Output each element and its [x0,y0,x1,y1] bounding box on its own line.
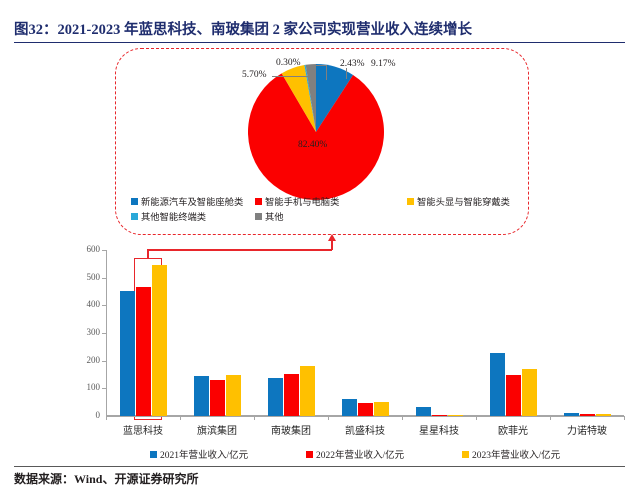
bar[interactable] [300,366,315,416]
y-axis-tick-label: 200 [70,355,100,365]
bar-legend-item-2023[interactable]: 2023年营业收入/亿元 [462,447,560,461]
bar-legend-item-2022[interactable]: 2022年营业收入/亿元 [306,447,404,461]
bar[interactable] [596,414,611,416]
bar-legend-label: 2023年营业收入/亿元 [472,447,560,461]
bar-legend: 2021年营业收入/亿元 2022年营业收入/亿元 2023年营业收入/亿元 [150,447,610,461]
bar[interactable] [210,380,225,416]
pie-legend-row-1: 新能源汽车及智能座舱类 智能手机与电脑类 智能头显与智能穿戴类 [131,194,523,209]
bar[interactable] [152,265,167,416]
page-title: 图32：2021-2023 年蓝思科技、南玻集团 2 家公司实现营业收入连续增长 [14,18,625,39]
leader-tick-570 [314,76,315,85]
title-divider [14,42,625,43]
bar[interactable] [416,407,431,416]
leader-tick-243 [346,68,347,79]
x-axis-category-label: 蓝思科技 [106,422,180,437]
leader-line-030 [309,65,327,66]
x-axis-tick-mark [254,416,255,420]
bar[interactable] [194,376,209,416]
x-axis-category-label: 凯盛科技 [328,422,402,437]
leader-line-570 [272,76,315,77]
bar[interactable] [490,353,505,416]
bar[interactable] [448,415,463,417]
pie-legend-item-other[interactable]: 其他 [255,209,284,223]
legend-swatch-icon [462,451,469,458]
legend-swatch-icon [131,198,138,205]
y-axis-tick-label: 300 [70,327,100,337]
pie-legend-item-headset-wearable[interactable]: 智能头显与智能穿戴类 [407,194,510,208]
x-axis-category-label: 南玻集团 [254,422,328,437]
y-axis-tick-label: 500 [70,272,100,282]
figure-title-block: 图32：2021-2023 年蓝思科技、南玻集团 2 家公司实现营业收入连续增长 [14,18,625,39]
bar-legend-label: 2022年营业收入/亿元 [316,447,404,461]
bar[interactable] [374,402,389,416]
source-note: 数据来源：Wind、开源证券研究所 [14,470,198,487]
pie-chart [246,62,386,202]
x-axis-tick-mark [180,416,181,420]
legend-swatch-icon [407,198,414,205]
bar[interactable] [136,287,151,416]
bar[interactable] [284,374,299,416]
x-axis-category-label: 力诺特玻 [550,422,624,437]
pie-legend-item-smartphone-pc[interactable]: 智能手机与电脑类 [255,194,339,208]
pie-legend-label: 其他智能终端类 [141,209,206,223]
pie-label-smartphone-pc: 82.40% [298,140,327,150]
bar-group [180,250,254,416]
pie-legend-label: 新能源汽车及智能座舱类 [141,194,243,208]
legend-swatch-icon [150,451,157,458]
y-axis-tick-label: 100 [70,382,100,392]
bar[interactable] [564,413,579,416]
legend-swatch-icon [131,213,138,220]
bar[interactable] [342,399,357,416]
x-axis-category-label: 旗滨集团 [180,422,254,437]
x-axis-category-label: 欧菲光 [476,422,550,437]
x-axis-tick-mark [624,416,625,420]
bar-chart: 0100200300400500600 蓝思科技旗滨集团南玻集团凯盛科技星星科技… [48,243,628,423]
pie-legend-label: 智能头显与智能穿戴类 [417,194,510,208]
legend-swatch-icon [306,451,313,458]
pie-label-other-smart-terminal: 0.30% [276,58,301,68]
y-axis-tick-label: 600 [70,244,100,254]
y-axis-tick-label: 400 [70,299,100,309]
legend-swatch-icon [255,198,262,205]
pie-legend-item-new-energy-vehicle[interactable]: 新能源汽车及智能座舱类 [131,194,243,208]
bar-legend-label: 2021年营业收入/亿元 [160,447,248,461]
x-axis-tick-mark [106,416,107,420]
figure-root: 图32：2021-2023 年蓝思科技、南玻集团 2 家公司实现营业收入连续增长… [0,0,639,486]
bar-plot-area: 0100200300400500600 [106,250,624,416]
x-axis-tick-mark [402,416,403,420]
y-axis-tick-label: 0 [70,410,100,420]
pie-legend-label: 智能手机与电脑类 [265,194,339,208]
bar-legend-item-2021[interactable]: 2021年营业收入/亿元 [150,447,248,461]
leader-tick-030 [326,65,327,80]
pie-label-new-energy-vehicle: 9.17% [371,59,396,69]
bar[interactable] [226,375,241,416]
bar-group [106,250,180,416]
bar[interactable] [506,375,521,416]
bar[interactable] [522,369,537,416]
bar-group [402,250,476,416]
bar[interactable] [120,291,135,416]
bar-group [254,250,328,416]
pie-label-other: 2.43% [340,59,365,69]
bar-group [328,250,402,416]
legend-swatch-icon [255,213,262,220]
pie-legend-row-2: 其他智能终端类 其他 [131,209,523,224]
bar-group [550,250,624,416]
bar[interactable] [432,415,447,417]
bar[interactable] [268,378,283,416]
pie-legend: 新能源汽车及智能座舱类 智能手机与电脑类 智能头显与智能穿戴类 其他智能终端类 … [131,194,523,224]
pie-label-headset-wearable: 5.70% [242,70,267,80]
x-axis-tick-mark [476,416,477,420]
x-axis-category-label: 星星科技 [402,422,476,437]
footer-divider [14,466,625,467]
bar[interactable] [580,414,595,416]
connector-arrow-icon [328,234,336,241]
pie-legend-item-other-smart-terminal[interactable]: 其他智能终端类 [131,209,206,223]
x-axis-tick-mark [550,416,551,420]
bar[interactable] [358,403,373,416]
bar-group [476,250,550,416]
pie-legend-label: 其他 [265,209,284,223]
x-axis-tick-mark [328,416,329,420]
